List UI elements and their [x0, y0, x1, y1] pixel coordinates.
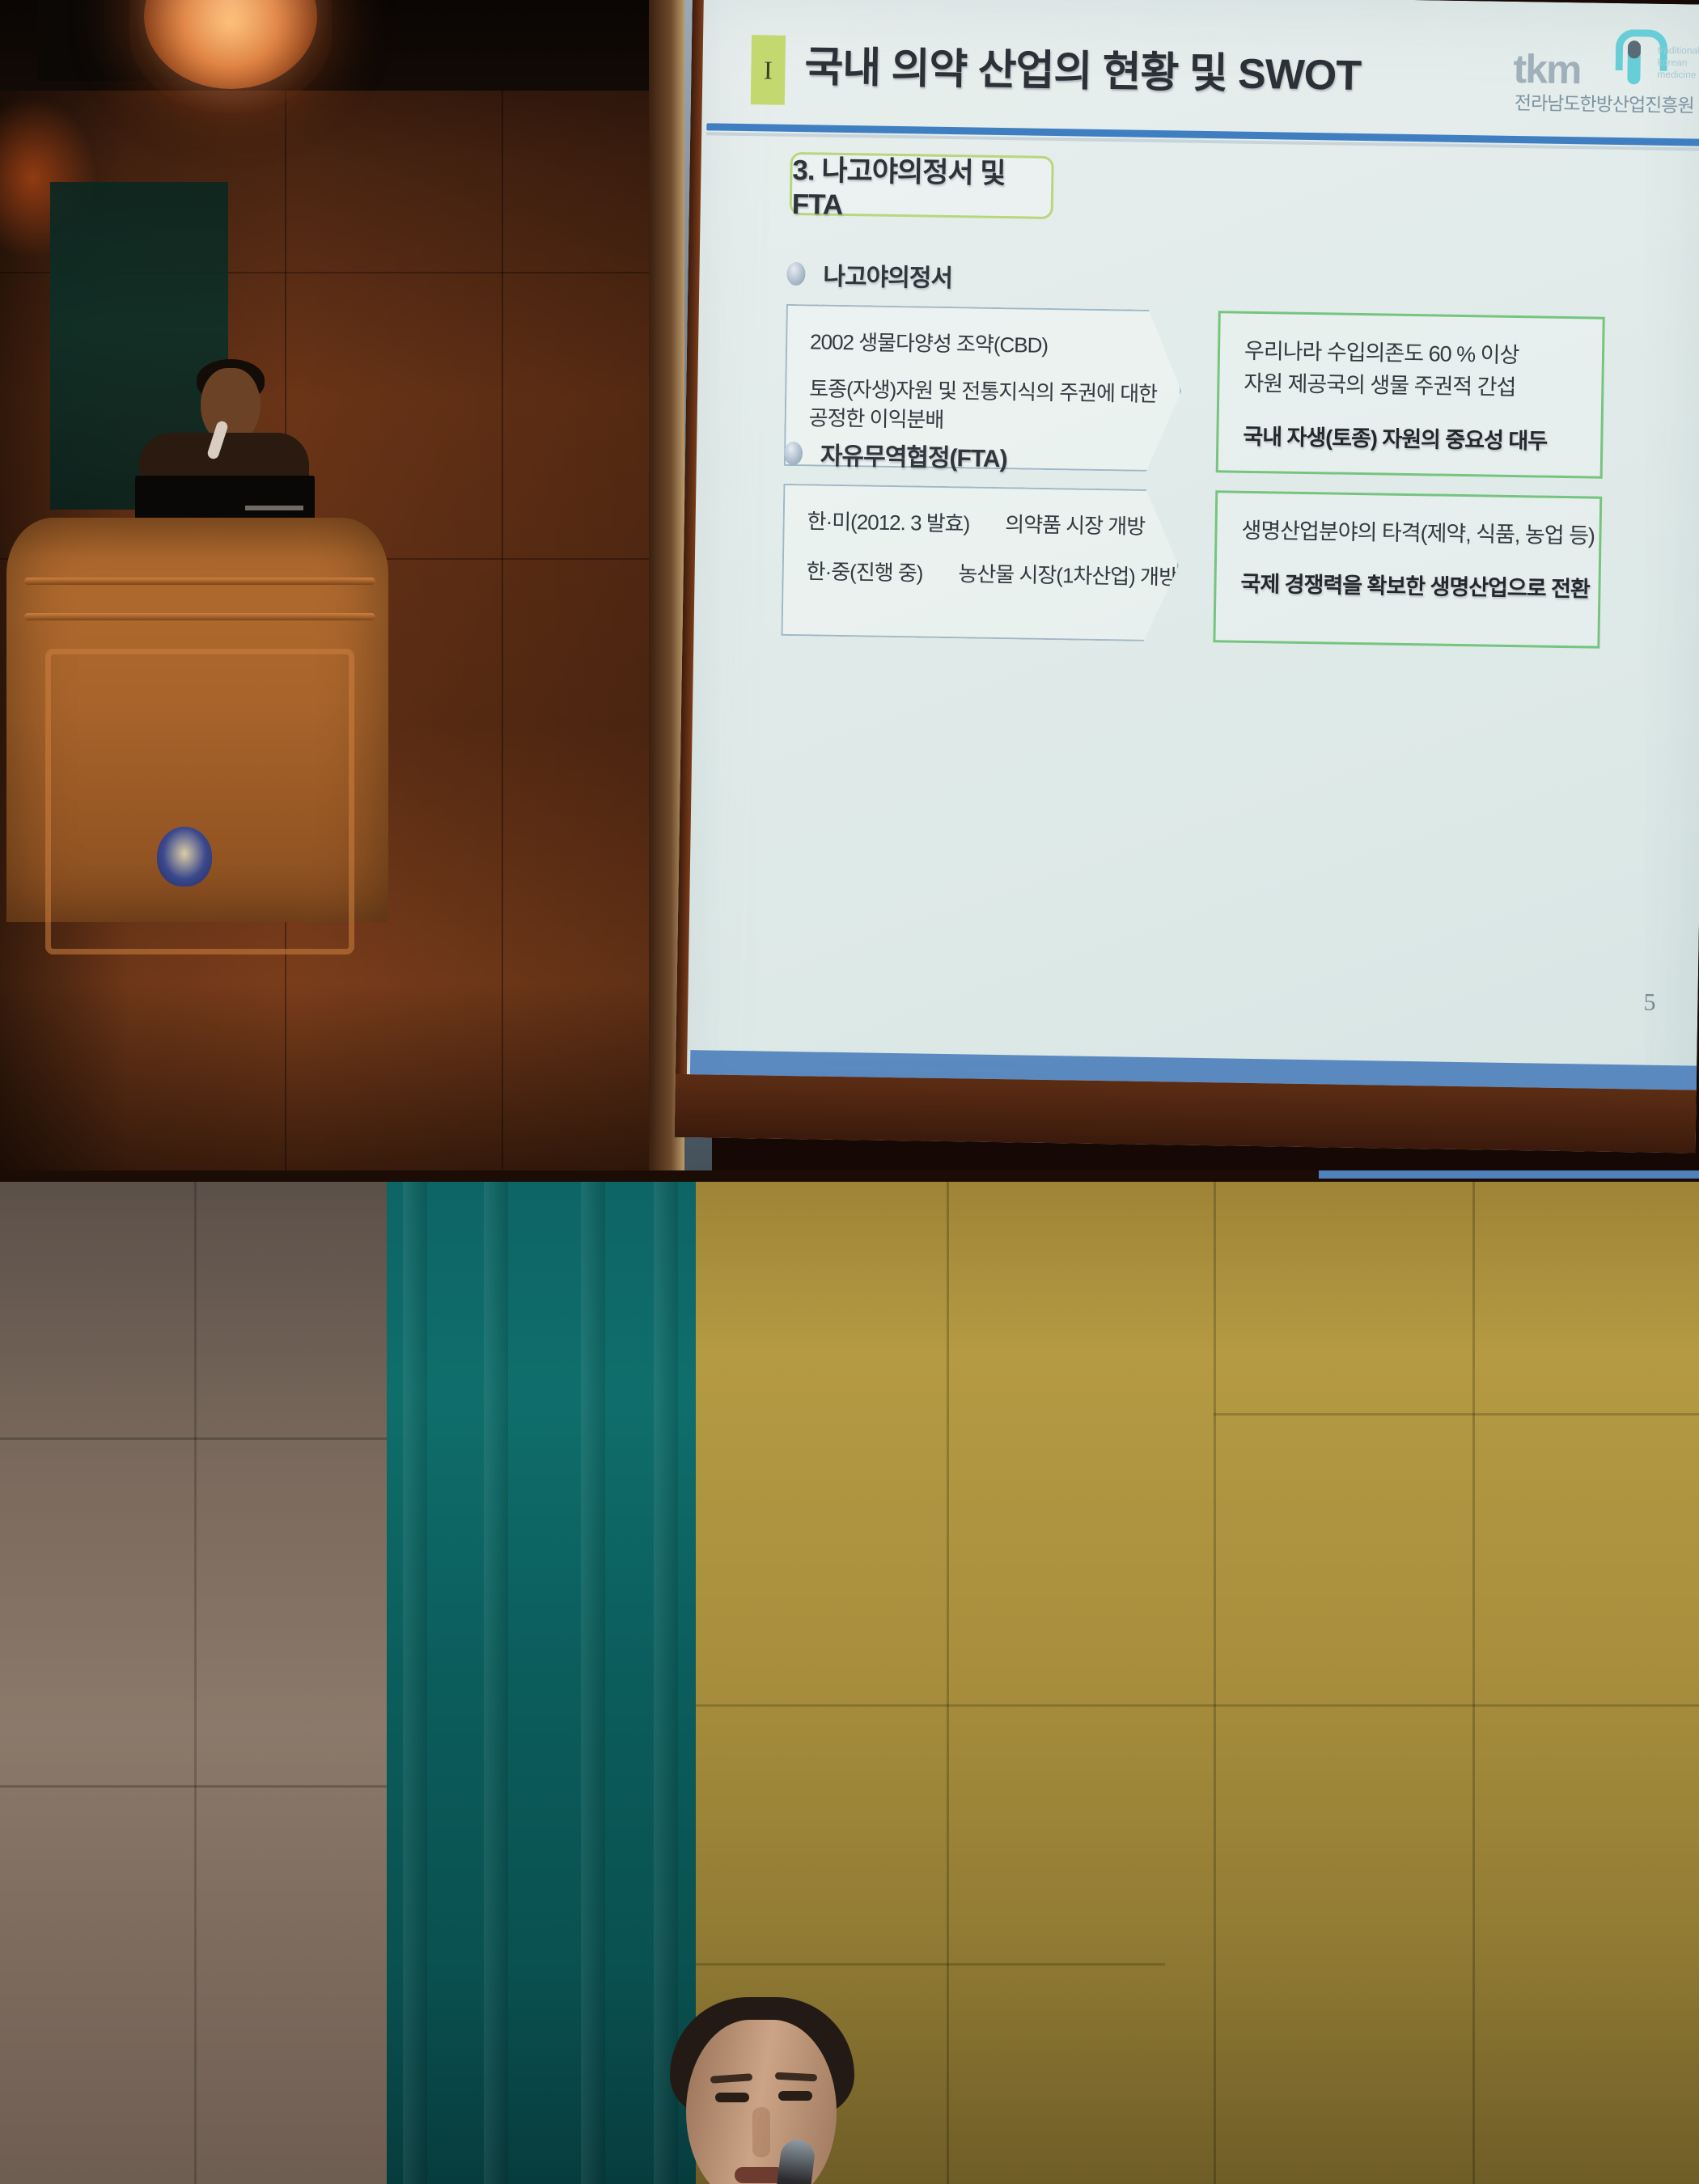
speaker-eye-left	[715, 2093, 749, 2102]
result-line-2: 자원 제공국의 생물 주권적 간섭	[1244, 367, 1578, 404]
bullet-dot-icon	[784, 441, 803, 464]
result-line-1: 우리나라 수입의존도 60 % 이상	[1244, 335, 1578, 372]
logo-english-line3: medicine	[1657, 69, 1699, 82]
bullet-dot-icon	[786, 261, 805, 285]
speaker-nose	[752, 2107, 770, 2157]
section-pill: 3. 나고야의정서 및 FTA	[790, 152, 1054, 219]
projection-screen: I 국내 의약 산업의 현황 및 SWOT tkm traditional ko…	[675, 0, 1699, 1153]
tkm-mark-icon	[1615, 29, 1653, 85]
result-box-fta: 생명산업분야의 타격(제약, 식품, 농업 등) 국제 경쟁력을 확보한 생명산…	[1213, 490, 1602, 648]
stage-curtain-bottom	[387, 1170, 698, 2184]
section-pill-label: 3. 나고야의정서 및 FTA	[792, 146, 1052, 224]
speaker-top-head	[201, 368, 261, 442]
result-box-nagoya: 우리나라 수입의존도 60 % 이상 자원 제공국의 생물 주권적 간섭 국내 …	[1216, 311, 1605, 478]
result-line-2: 국제 경쟁력을 확보한 생명산업으로 전환	[1240, 568, 1574, 605]
slide-page-number: 5	[1643, 989, 1656, 1017]
result-line-1: 생명산업분야의 타격(제약, 식품, 농업 등)	[1241, 514, 1575, 552]
result-line-3: 국내 자생(토종) 자원의 중요성 대두	[1243, 421, 1577, 458]
slide: I 국내 의약 산업의 현황 및 SWOT tkm traditional ko…	[690, 0, 1699, 1064]
fta-row2-right: 농산물 시장(1차산업) 개방	[958, 559, 1177, 591]
wall-left-panels	[0, 1170, 388, 2184]
screenshot-root: I 국내 의약 산업의 현황 및 SWOT tkm traditional ko…	[0, 0, 1699, 2184]
logo-english: traditional korean medicine	[1657, 44, 1699, 82]
fta-row2-left: 한·중(진행 중)	[806, 557, 922, 587]
logo-korean-name: 전라남도한방산업진흥원	[1515, 87, 1694, 117]
bullet-label: 자유무역협정(FTA)	[820, 436, 1007, 475]
photo-top: I 국내 의약 산업의 현황 및 SWOT tkm traditional ko…	[0, 0, 1699, 1170]
section-marker-badge: I	[751, 35, 786, 105]
fta-row1-right: 의약품 시장 개방	[1005, 510, 1145, 541]
page-title: 국내 의약 산업의 현황 및 SWOT	[804, 32, 1362, 102]
source-line-1: 2002 생물다양성 조약(CBD)	[810, 327, 1125, 361]
source-box-fta: 한·미(2012. 3 발효) 의약품 시장 개방 한·중(진행 중) 농산물 …	[781, 484, 1180, 642]
source-line-3: 공정한 이익분배	[808, 403, 1123, 437]
bullet-fta: 자유무역협정(FTA)	[784, 435, 1007, 474]
logo-english-line1: traditional	[1658, 44, 1699, 57]
fta-row-1: 한·미(2012. 3 발효) 의약품 시장 개방	[807, 506, 1121, 540]
tkm-logo: tkm traditional korean medicine 전라남도한방산업…	[1513, 28, 1688, 114]
photo-bottom: VERI TAS LUX MEA ㅈ	[0, 1170, 1699, 2184]
wall-right-panels	[696, 1170, 1699, 2184]
bullet-label: 나고야의정서	[823, 256, 952, 294]
bullet-nagoya: 나고야의정서	[786, 256, 952, 294]
screen-edge-sliver	[1319, 1170, 1699, 1179]
podium-crest-top	[157, 827, 212, 887]
fta-row1-left: 한·미(2012. 3 발효)	[807, 506, 969, 538]
source-line-2: 토종(자생)자원 및 전통지식의 주권에 대한	[809, 374, 1124, 408]
speaker-eye-right	[778, 2091, 812, 2101]
logo-english-line2: korean	[1658, 57, 1699, 70]
fta-row-2: 한·중(진행 중) 농산물 시장(1차산업) 개방	[806, 557, 1121, 590]
logo-wordmark: tkm	[1513, 45, 1581, 93]
podium-top	[6, 518, 388, 922]
podium-monitor-top	[135, 476, 315, 520]
